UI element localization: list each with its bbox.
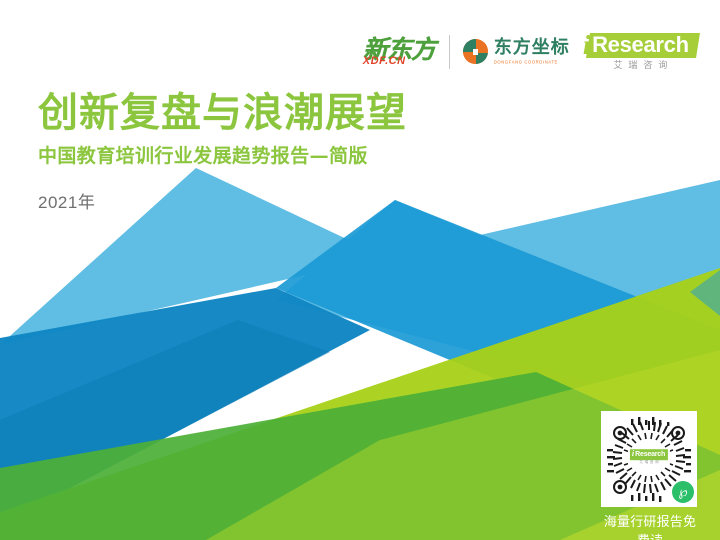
dongfang-zuobiao-zh: 东方坐标 <box>494 39 570 57</box>
title-block: 创新复盘与浪潮展望 中国教育培训行业发展趋势报告—简版 2021年 <box>38 92 407 213</box>
qr-center-logo: i Research 艾瑞咨询 <box>628 448 670 466</box>
iresearch-zh: 艾瑞咨询 <box>607 62 673 71</box>
iresearch-i: i <box>583 33 591 59</box>
iresearch-plate: Research <box>586 33 700 58</box>
dongfang-zuobiao-en: DONGFANG COORDINATE <box>494 60 570 65</box>
logo-iresearch: i Research 艾瑞咨询 <box>583 33 698 72</box>
dongfang-zuobiao-mark-icon <box>463 39 488 64</box>
miniprogram-glyph: ℘ <box>678 485 687 500</box>
iresearch-word: Research <box>592 34 689 56</box>
qr-code-card[interactable]: i Research 艾瑞咨询 ℘ <box>601 411 697 507</box>
main-title: 创新复盘与浪潮展望 <box>38 92 407 135</box>
logo-bar: 新东方 XDF.CN 东方坐标 DONGFANG COORDINATE i Re… <box>363 26 698 78</box>
qr-center-i: i <box>632 450 634 458</box>
sub-title: 中国教育培训行业发展趋势报告—简版 <box>38 141 407 168</box>
qr-center-word: Research <box>635 451 665 458</box>
year-label: 2021年 <box>38 188 407 213</box>
logo-new-oriental: 新东方 XDF.CN <box>363 37 449 67</box>
wechat-miniprogram-badge-icon: ℘ <box>672 481 694 503</box>
logo-dongfang-zuobiao: 东方坐标 DONGFANG COORDINATE <box>463 39 583 64</box>
qr-caption: 海量行研报告免费读 <box>598 511 702 540</box>
logo-divider <box>449 35 450 69</box>
slide-canvas: 新东方 XDF.CN 东方坐标 DONGFANG COORDINATE i Re… <box>0 0 720 540</box>
qr-center-sub: 艾瑞咨询 <box>638 461 660 465</box>
